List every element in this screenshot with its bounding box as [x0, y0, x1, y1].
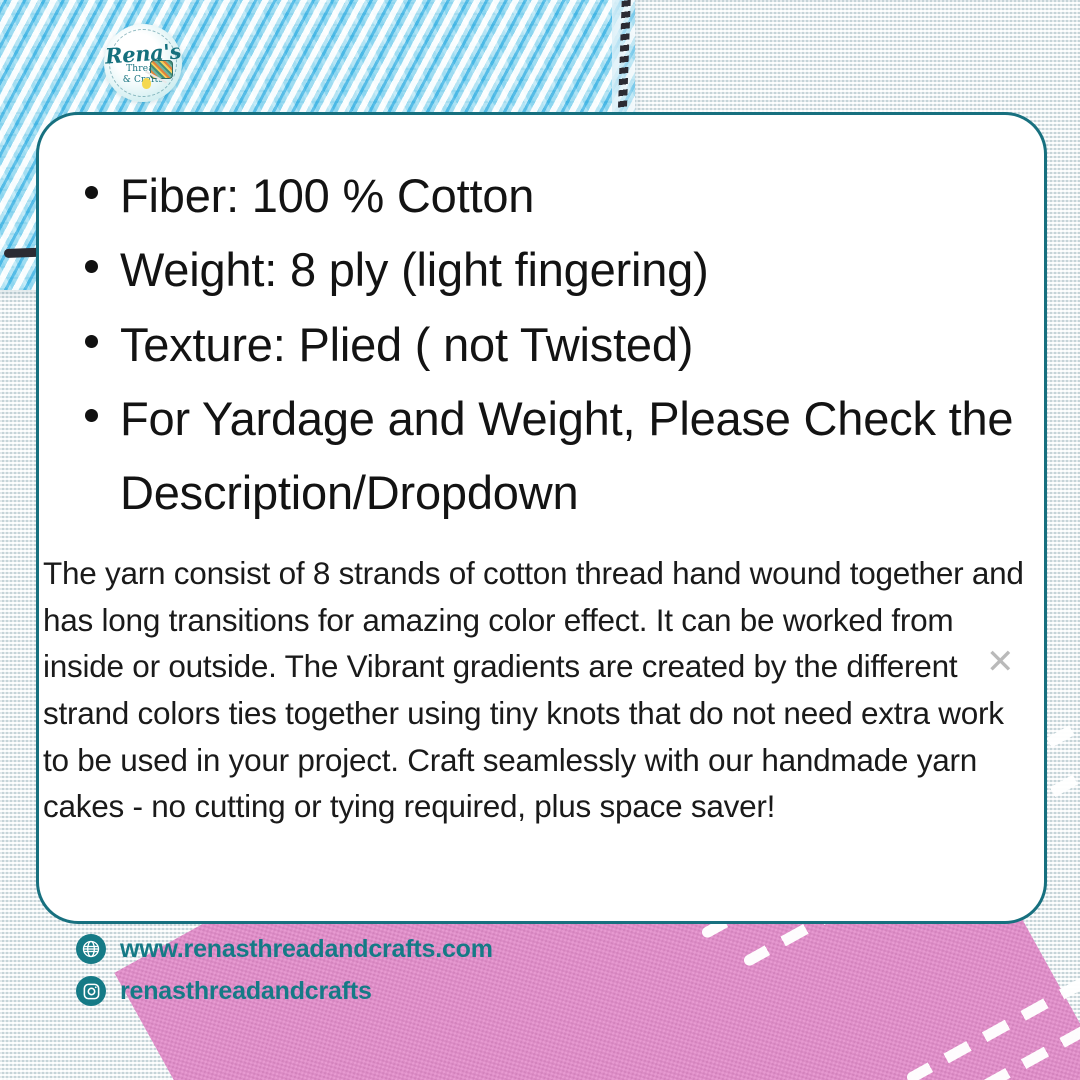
list-item: For Yardage and Weight, Please Check the…: [39, 382, 1044, 531]
instagram-row[interactable]: renasthreadandcrafts: [76, 976, 493, 1006]
yarn-strand-icon: [142, 78, 151, 89]
instagram-icon: [76, 976, 106, 1006]
product-description-paragraph: The yarn consist of 8 strands of cotton …: [39, 550, 1044, 830]
website-row[interactable]: www.renasthreadandcrafts.com: [76, 934, 493, 964]
info-card: Fiber: 100 % Cotton Weight: 8 ply (light…: [36, 112, 1047, 924]
footer-contact-block: www.renasthreadandcrafts.com renasthread…: [76, 934, 493, 1018]
bullet-point-icon: [85, 409, 98, 422]
spec-bullet-label: Texture: Plied ( not Twisted): [120, 308, 693, 382]
bullet-point-icon: [85, 260, 98, 273]
list-item: Fiber: 100 % Cotton: [39, 159, 1044, 233]
spec-bullet-label: Fiber: 100 % Cotton: [120, 159, 534, 233]
list-item: Weight: 8 ply (light fingering): [39, 233, 1044, 307]
watermark-x-icon: ✕: [986, 645, 1015, 679]
spec-bullet-list: Fiber: 100 % Cotton Weight: 8 ply (light…: [39, 115, 1044, 530]
website-url-label: www.renasthreadandcrafts.com: [120, 935, 493, 964]
list-item: Texture: Plied ( not Twisted): [39, 308, 1044, 382]
spec-bullet-label: For Yardage and Weight, Please Check the…: [120, 382, 1034, 531]
instagram-handle-label: renasthreadandcrafts: [120, 977, 372, 1006]
spec-bullet-label: Weight: 8 ply (light fingering): [120, 233, 709, 307]
brand-logo: Rena's Thread & Crafts: [104, 24, 182, 102]
globe-icon: [76, 934, 106, 964]
bullet-point-icon: [85, 186, 98, 199]
bullet-point-icon: [85, 335, 98, 348]
poster-canvas: Rena's Thread & Crafts Fiber: 100 % Cott…: [0, 0, 1080, 1080]
